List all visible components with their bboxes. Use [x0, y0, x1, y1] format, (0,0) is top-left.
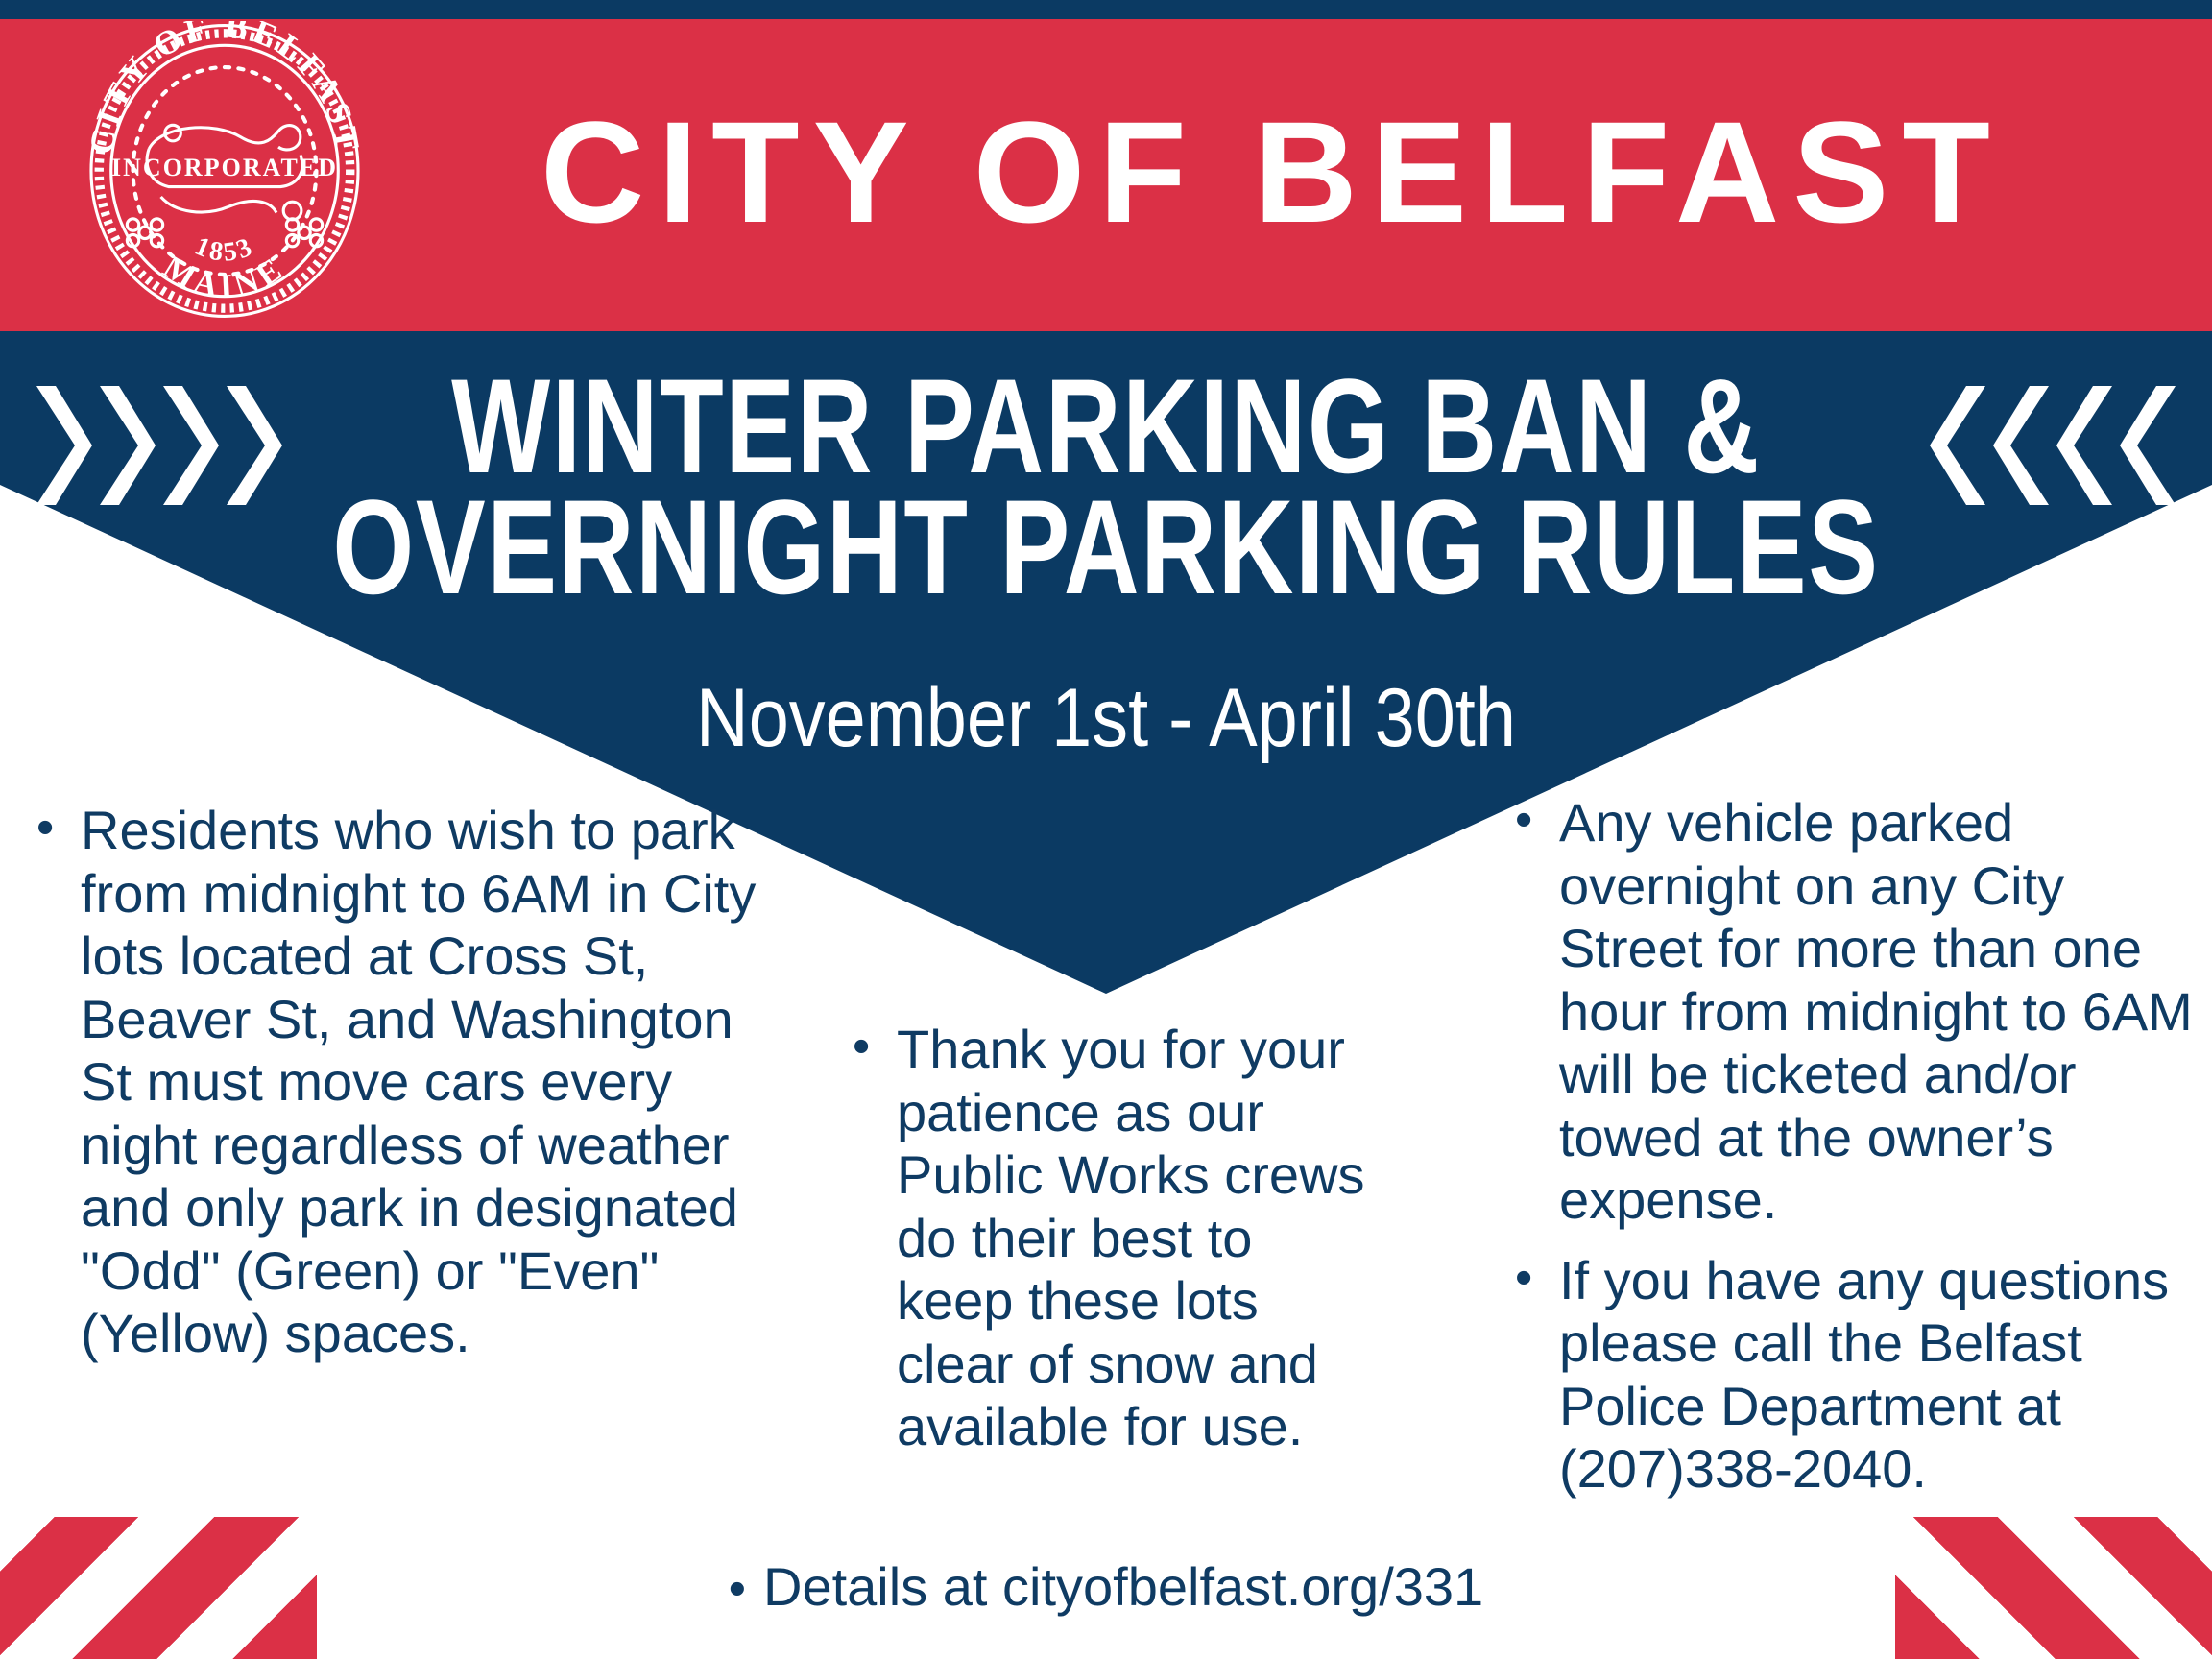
chevron-right-icon	[96, 382, 156, 509]
svg-text:CITY OF BELFAST: CITY OF BELFAST	[82, 21, 367, 156]
chevron-right-icon	[223, 382, 282, 509]
chevron-group-left	[33, 382, 282, 509]
poster-canvas: CITY OF BELFAST MAINE 1853 INCORPORATED	[0, 0, 2212, 1659]
chevron-right-icon	[159, 382, 219, 509]
bullet-text: If you have any questions please call th…	[1559, 1249, 2212, 1501]
bullet-text: Residents who wish to park from midnight…	[81, 799, 758, 1365]
list-item: Residents who wish to park from midnight…	[29, 799, 758, 1365]
bullet-column-middle: Thank you for your patience as our Publi…	[845, 1018, 1382, 1476]
banner-date-range: November 1st - April 30th	[132, 677, 2080, 759]
top-navy-strip	[0, 0, 2212, 19]
chevron-left-icon	[1993, 382, 2053, 509]
bullet-text: Any vehicle parked overnight on any City…	[1559, 791, 2212, 1232]
bullet-column-left: Residents who wish to park from midnight…	[29, 799, 758, 1382]
svg-text:1853: 1853	[190, 231, 258, 268]
bullet-column-right: Any vehicle parked overnight on any City…	[1507, 791, 2212, 1518]
svg-text:INCORPORATED: INCORPORATED	[111, 154, 338, 181]
list-item: Thank you for your patience as our Publi…	[845, 1018, 1382, 1458]
bullet-point-icon: •	[729, 1560, 746, 1619]
chevron-left-icon	[2120, 382, 2179, 509]
diagonal-stripes-left	[0, 1517, 317, 1659]
list-item: If you have any questions please call th…	[1507, 1249, 2212, 1501]
list-item: Any vehicle parked overnight on any City…	[1507, 791, 2212, 1232]
page-title: CITY OF BELFAST	[413, 52, 2131, 292]
city-seal-icon: CITY OF BELFAST MAINE 1853 INCORPORATED	[65, 21, 384, 321]
chevron-left-icon	[2056, 382, 2116, 509]
bullet-text: Thank you for your patience as our Publi…	[897, 1018, 1382, 1458]
bullet-list-right: Any vehicle parked overnight on any City…	[1507, 791, 2212, 1501]
bullet-list-middle: Thank you for your patience as our Publi…	[845, 1018, 1382, 1458]
chevron-right-icon	[33, 382, 92, 509]
chevron-left-icon	[1930, 382, 1989, 509]
chevron-group-right	[1930, 382, 2179, 509]
details-link-text[interactable]: Details at cityofbelfast.org/331	[763, 1556, 1483, 1617]
bullet-list-left: Residents who wish to park from midnight…	[29, 799, 758, 1365]
diagonal-stripes-right	[1895, 1517, 2212, 1659]
footer-details-line: •Details at cityofbelfast.org/331	[0, 1555, 2212, 1619]
